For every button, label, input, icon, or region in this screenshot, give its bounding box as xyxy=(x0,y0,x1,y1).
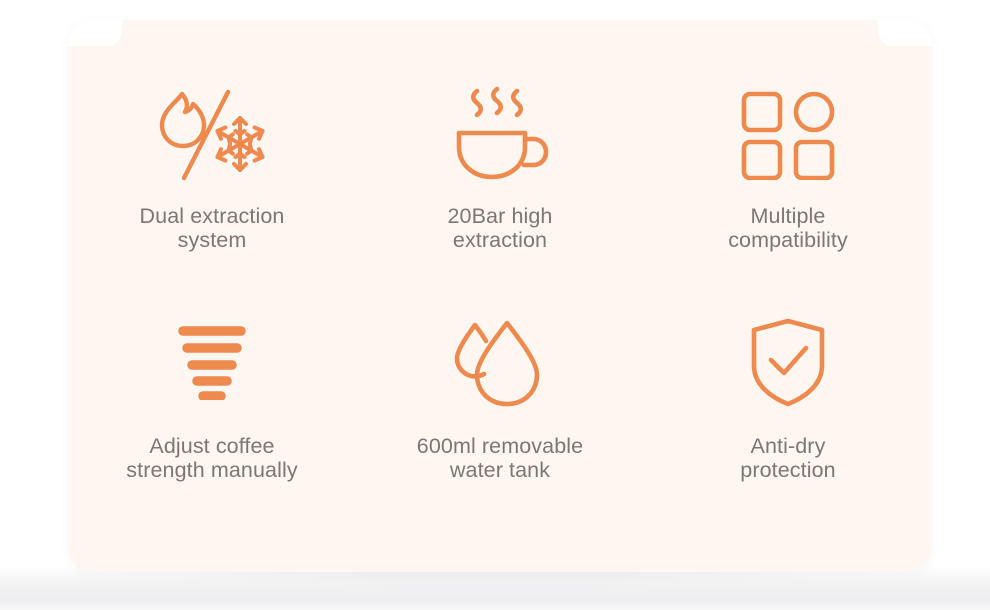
feature-grid: Dual extraction system 20Bar high extrac… xyxy=(68,60,932,540)
feature-water-tank: 600ml removable water tank xyxy=(356,300,644,540)
feature-label: Anti-dry protection xyxy=(740,434,835,482)
feature-label: Multiple compatibility xyxy=(728,204,848,252)
feature-label: 600ml removable water tank xyxy=(417,434,583,482)
feature-label: Dual extraction system xyxy=(140,204,285,252)
feature-label: 20Bar high extraction xyxy=(448,204,553,252)
feature-dual-extraction: Dual extraction system xyxy=(68,60,356,300)
feature-high-pressure: 20Bar high extraction xyxy=(356,60,644,300)
shield-check-icon xyxy=(746,306,830,418)
feature-adjust-strength: Adjust coffee strength manually xyxy=(68,300,356,540)
feature-label: Adjust coffee strength manually xyxy=(126,434,297,482)
coffee-cup-steam-icon xyxy=(445,78,555,190)
flame-snowflake-icon xyxy=(142,78,282,190)
strength-bars-icon xyxy=(175,306,249,418)
water-droplets-icon xyxy=(450,306,550,418)
feature-card: Dual extraction system 20Bar high extrac… xyxy=(68,20,932,572)
feature-anti-dry: Anti-dry protection xyxy=(644,300,932,540)
feature-multiple-compatibility: Multiple compatibility xyxy=(644,60,932,300)
grid-squares-circle-icon xyxy=(738,78,838,190)
